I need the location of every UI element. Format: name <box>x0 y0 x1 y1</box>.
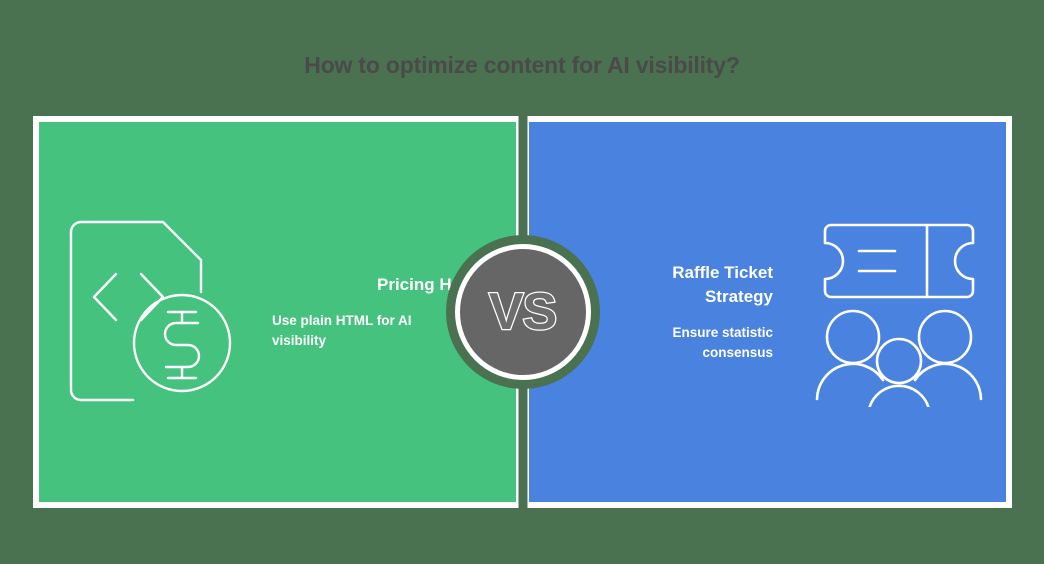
left-item-subtitle: Use plain HTML for AI visibility <box>272 311 422 352</box>
document-code-dollar-icon <box>61 212 233 412</box>
page-title: How to optimize content for AI visibilit… <box>0 52 1044 79</box>
comparison-board: Pricing Hack Use plain HTML for AI visib… <box>33 116 1012 508</box>
comparison-panel-left[interactable]: Pricing Hack Use plain HTML for AI visib… <box>33 116 522 508</box>
comparison-panel-right[interactable]: Raffle Ticket Strategy Ensure statistic … <box>523 116 1012 508</box>
ticket-people-icon <box>809 217 989 407</box>
right-item-title: Raffle Ticket Strategy <box>625 261 773 310</box>
vs-badge: VS <box>455 244 591 380</box>
vs-label: VS <box>489 286 556 338</box>
right-item-subtitle: Ensure statistic consensus <box>623 323 773 364</box>
left-icon-slot <box>39 212 254 412</box>
panel-right-content: Raffle Ticket Strategy Ensure statistic … <box>529 122 1006 502</box>
right-icon-slot <box>791 217 1006 407</box>
panel-left-content: Pricing Hack Use plain HTML for AI visib… <box>39 122 516 502</box>
